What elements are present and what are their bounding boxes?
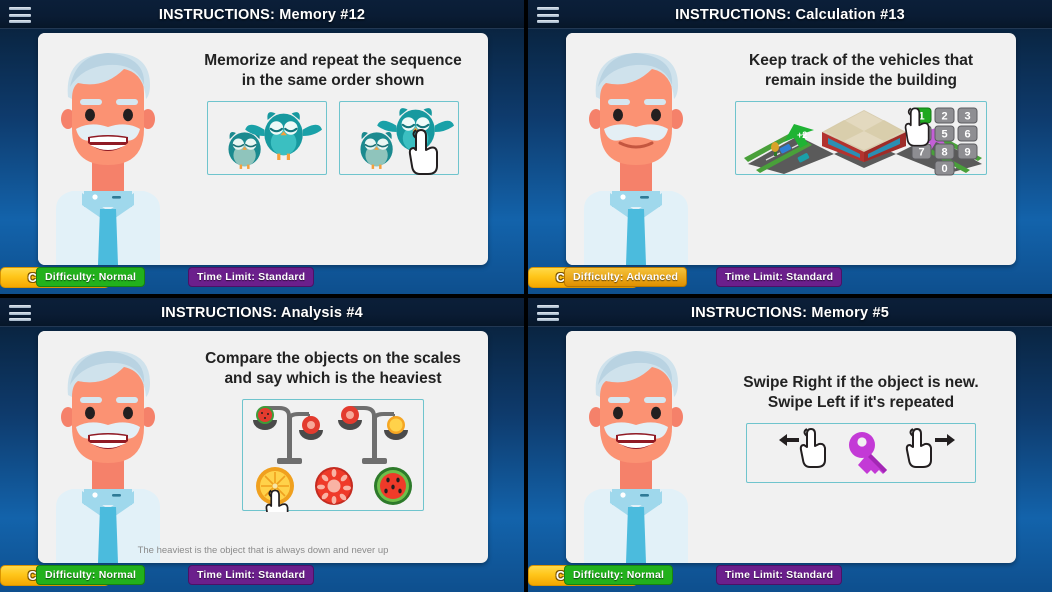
demo-area: [746, 423, 976, 483]
instruction-card: Swipe Right if the object is new. Swipe …: [566, 331, 1016, 563]
demo-area: [207, 101, 459, 175]
panel-analysis-4: INSTRUCTIONS: Analysis #4: [0, 298, 524, 592]
panel-header: INSTRUCTIONS: Memory #5: [528, 298, 1052, 327]
panel-header: INSTRUCTIONS: Memory #12: [0, 0, 524, 29]
avatar: [38, 33, 178, 265]
panel-memory-5: INSTRUCTIONS: Memory #5: [528, 298, 1052, 592]
instruction-card: Compare the objects on the scales and sa…: [38, 331, 488, 563]
demo-box-swipe[interactable]: [746, 423, 976, 483]
time-limit-badge[interactable]: Time Limit: Standard: [188, 565, 314, 585]
choice-tomato: [315, 467, 353, 505]
instruction-line-1: Memorize and repeat the sequence: [204, 51, 462, 71]
demo-area: [242, 399, 424, 511]
instruction-text: Memorize and repeat the sequence in the …: [204, 51, 462, 92]
panel-footer: Difficulty: Normal Time Limit: Standard …: [528, 565, 1052, 587]
instruction-line-1: Swipe Right if the object is new.: [743, 373, 978, 393]
panel-calculation-13: INSTRUCTIONS: Calculation #13: [528, 0, 1052, 294]
panel-memory-12: INSTRUCTIONS: Memory #12: [0, 0, 524, 294]
difficulty-badge[interactable]: Difficulty: Normal: [36, 267, 145, 287]
svg-text:8: 8: [941, 146, 947, 158]
panel-footer: Difficulty: Normal Time Limit: Standard …: [0, 565, 524, 587]
difficulty-badge[interactable]: Difficulty: Normal: [564, 565, 673, 585]
purple-key-icon: [849, 432, 887, 474]
time-limit-badge[interactable]: Time Limit: Standard: [716, 267, 842, 287]
svg-text:5: 5: [941, 128, 947, 140]
hint-text: The heaviest is the object that is alway…: [38, 545, 488, 556]
instruction-card: Memorize and repeat the sequence in the …: [38, 33, 488, 265]
instruction-text: Compare the objects on the scales and sa…: [205, 349, 461, 390]
page-title: INSTRUCTIONS: Analysis #4: [161, 305, 363, 321]
page-title: INSTRUCTIONS: Calculation #13: [675, 7, 905, 23]
difficulty-badge[interactable]: Difficulty: Normal: [36, 565, 145, 585]
svg-text:3: 3: [964, 110, 970, 122]
demo-box-building-keypad[interactable]: +2 -1 1: [735, 101, 987, 175]
hamburger-menu-icon[interactable]: [9, 305, 31, 321]
choice-watermelon: [374, 467, 412, 505]
instruction-line-1: Compare the objects on the scales: [205, 349, 461, 369]
avatar: [38, 331, 178, 563]
balance-scale-2: [338, 406, 408, 464]
demo-box-tap[interactable]: [339, 101, 459, 175]
panel-grid: INSTRUCTIONS: Memory #12: [0, 0, 1052, 592]
demo-area: +2 -1 1: [735, 101, 987, 175]
instruction-line-2: and say which is the heaviest: [205, 369, 461, 389]
time-limit-badge[interactable]: Time Limit: Standard: [188, 267, 314, 287]
svg-text:6: 6: [964, 128, 970, 140]
time-limit-badge[interactable]: Time Limit: Standard: [716, 565, 842, 585]
svg-text:7: 7: [918, 146, 924, 158]
panel-header: INSTRUCTIONS: Analysis #4: [0, 298, 524, 327]
instruction-card: Keep track of the vehicles that remain i…: [566, 33, 1016, 265]
instruction-line-1: Keep track of the vehicles that: [749, 51, 973, 71]
swipe-left-hand-icon: [779, 429, 825, 467]
instruction-line-2: Swipe Left if it's repeated: [743, 393, 978, 413]
hamburger-menu-icon[interactable]: [537, 7, 559, 23]
instruction-line-2: remain inside the building: [749, 71, 973, 91]
svg-text:2: 2: [941, 110, 947, 122]
page-title: INSTRUCTIONS: Memory #12: [159, 7, 365, 23]
instruction-line-2: in the same order shown: [204, 71, 462, 91]
svg-text:9: 9: [964, 146, 970, 158]
demo-box-scales[interactable]: [242, 399, 424, 511]
hamburger-menu-icon[interactable]: [9, 7, 31, 23]
page-title: INSTRUCTIONS: Memory #5: [691, 305, 889, 321]
instruction-text: Keep track of the vehicles that remain i…: [749, 51, 973, 92]
demo-box-sequence: [207, 101, 327, 175]
panel-header: INSTRUCTIONS: Calculation #13: [528, 0, 1052, 29]
avatar: [566, 331, 706, 563]
panel-footer: Difficulty: Advanced Time Limit: Standar…: [528, 267, 1052, 289]
avatar: [566, 33, 706, 265]
swipe-right-hand-icon: [907, 429, 955, 467]
balance-scale-1: [253, 406, 323, 464]
instruction-text: Swipe Right if the object is new. Swipe …: [743, 373, 978, 414]
arrow-in-label: +2: [797, 130, 807, 140]
difficulty-badge[interactable]: Difficulty: Advanced: [564, 267, 687, 287]
panel-footer: Difficulty: Normal Time Limit: Standard …: [0, 267, 524, 289]
hamburger-menu-icon[interactable]: [537, 305, 559, 321]
svg-text:0: 0: [941, 163, 947, 175]
